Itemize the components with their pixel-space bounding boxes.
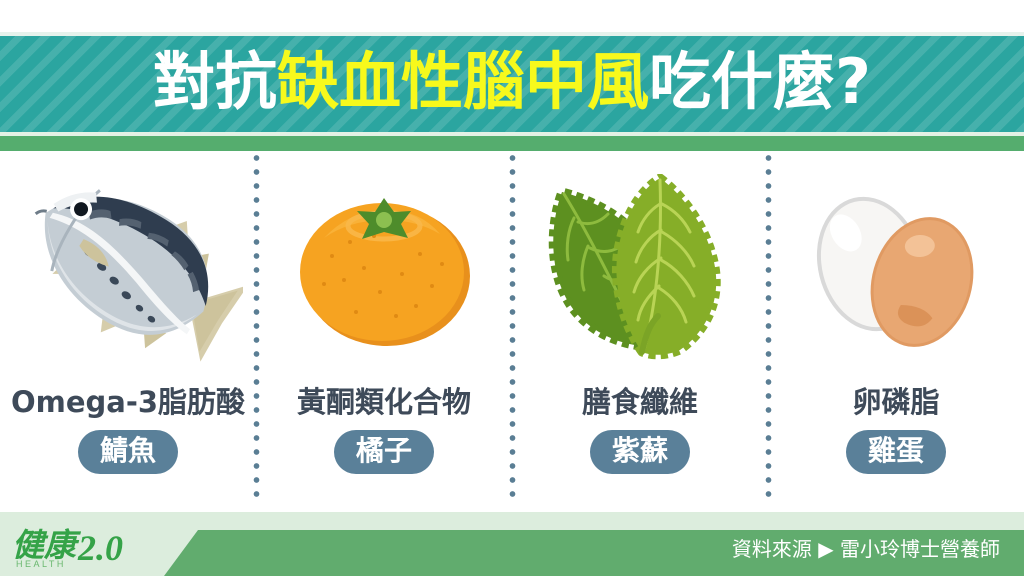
- food-pill: 橘子: [334, 430, 434, 474]
- column-divider-3: [765, 151, 772, 505]
- perilla-leaves-svg: [538, 174, 743, 364]
- page-title: 對抗缺血性腦中風吃什麼?: [0, 32, 1024, 132]
- food-pill: 紫蘇: [590, 430, 690, 474]
- mackerel-fish-icon: [0, 151, 256, 386]
- column-omega3: Omega-3脂肪酸 鯖魚: [0, 151, 256, 509]
- perilla-leaf-light: [616, 178, 716, 355]
- column-divider-2: [509, 151, 516, 505]
- nutrient-label: Omega-3脂肪酸: [11, 388, 245, 417]
- nutrient-label: 黃酮類化合物: [297, 388, 471, 417]
- food-pill: 雞蛋: [846, 430, 946, 474]
- title-segment-white-tail: 吃什麼?: [649, 51, 871, 113]
- perilla-leaves-icon: [512, 151, 768, 386]
- column-lecithin: 卵磷脂 雞蛋: [768, 151, 1024, 509]
- food-pill: 鯖魚: [78, 430, 178, 474]
- nutrient-label: 膳食纖維: [582, 388, 698, 417]
- title-segment-highlight: 缺血性腦中風: [277, 51, 649, 113]
- column-flavonoids: 黃酮類化合物 橘子: [256, 151, 512, 509]
- logo-version: 2.0: [77, 528, 123, 568]
- source-credit: 資料來源 ▶ 雷小玲博士營養師: [732, 539, 1000, 559]
- mackerel-fish-svg: [13, 161, 243, 376]
- nutrient-label: 卵磷脂: [852, 388, 939, 417]
- eggs-svg: [796, 176, 996, 361]
- orange-fruit-svg: [284, 176, 484, 361]
- orange-fruit-icon: [256, 151, 512, 386]
- title-segment-white-lead: 對抗: [153, 51, 277, 113]
- infographic-poster: 對抗缺血性腦中風吃什麼?: [0, 0, 1024, 576]
- green-accent-band: [0, 136, 1024, 151]
- logo-subtext: HEALTH: [16, 559, 66, 569]
- column-divider-1: [253, 151, 260, 505]
- brand-logo[interactable]: 健康 2.0 HEALTH: [10, 524, 170, 572]
- eggs-icon: [768, 151, 1024, 386]
- column-dietary-fiber: 膳食纖維 紫蘇: [512, 151, 768, 509]
- health-2-0-logo-svg: 健康 2.0 HEALTH: [10, 524, 170, 572]
